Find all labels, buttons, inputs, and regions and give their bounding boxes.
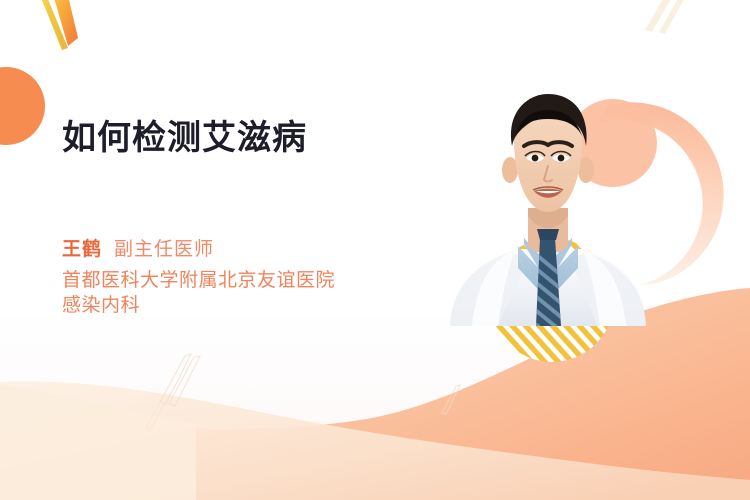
doctor-rank: 副主任医师 [114,234,214,261]
doctor-portrait-illustration [432,88,664,326]
credential-row: 王鹤 副主任医师 [62,234,422,261]
doctor-name: 王鹤 [62,234,102,261]
doctor-portrait [432,88,664,326]
affiliation-line-1: 首都医科大学附属北京友谊医院 [62,268,422,294]
promo-slide: 如何检测艾滋病 王鹤 副主任医师 首都医科大学附属北京友谊医院 感染内科 [0,0,750,500]
page-title: 如何检测艾滋病 [62,118,422,159]
text-block: 如何检测艾滋病 王鹤 副主任医师 首都医科大学附属北京友谊医院 感染内科 [62,118,422,319]
affiliation-line-2: 感染内科 [62,293,422,319]
